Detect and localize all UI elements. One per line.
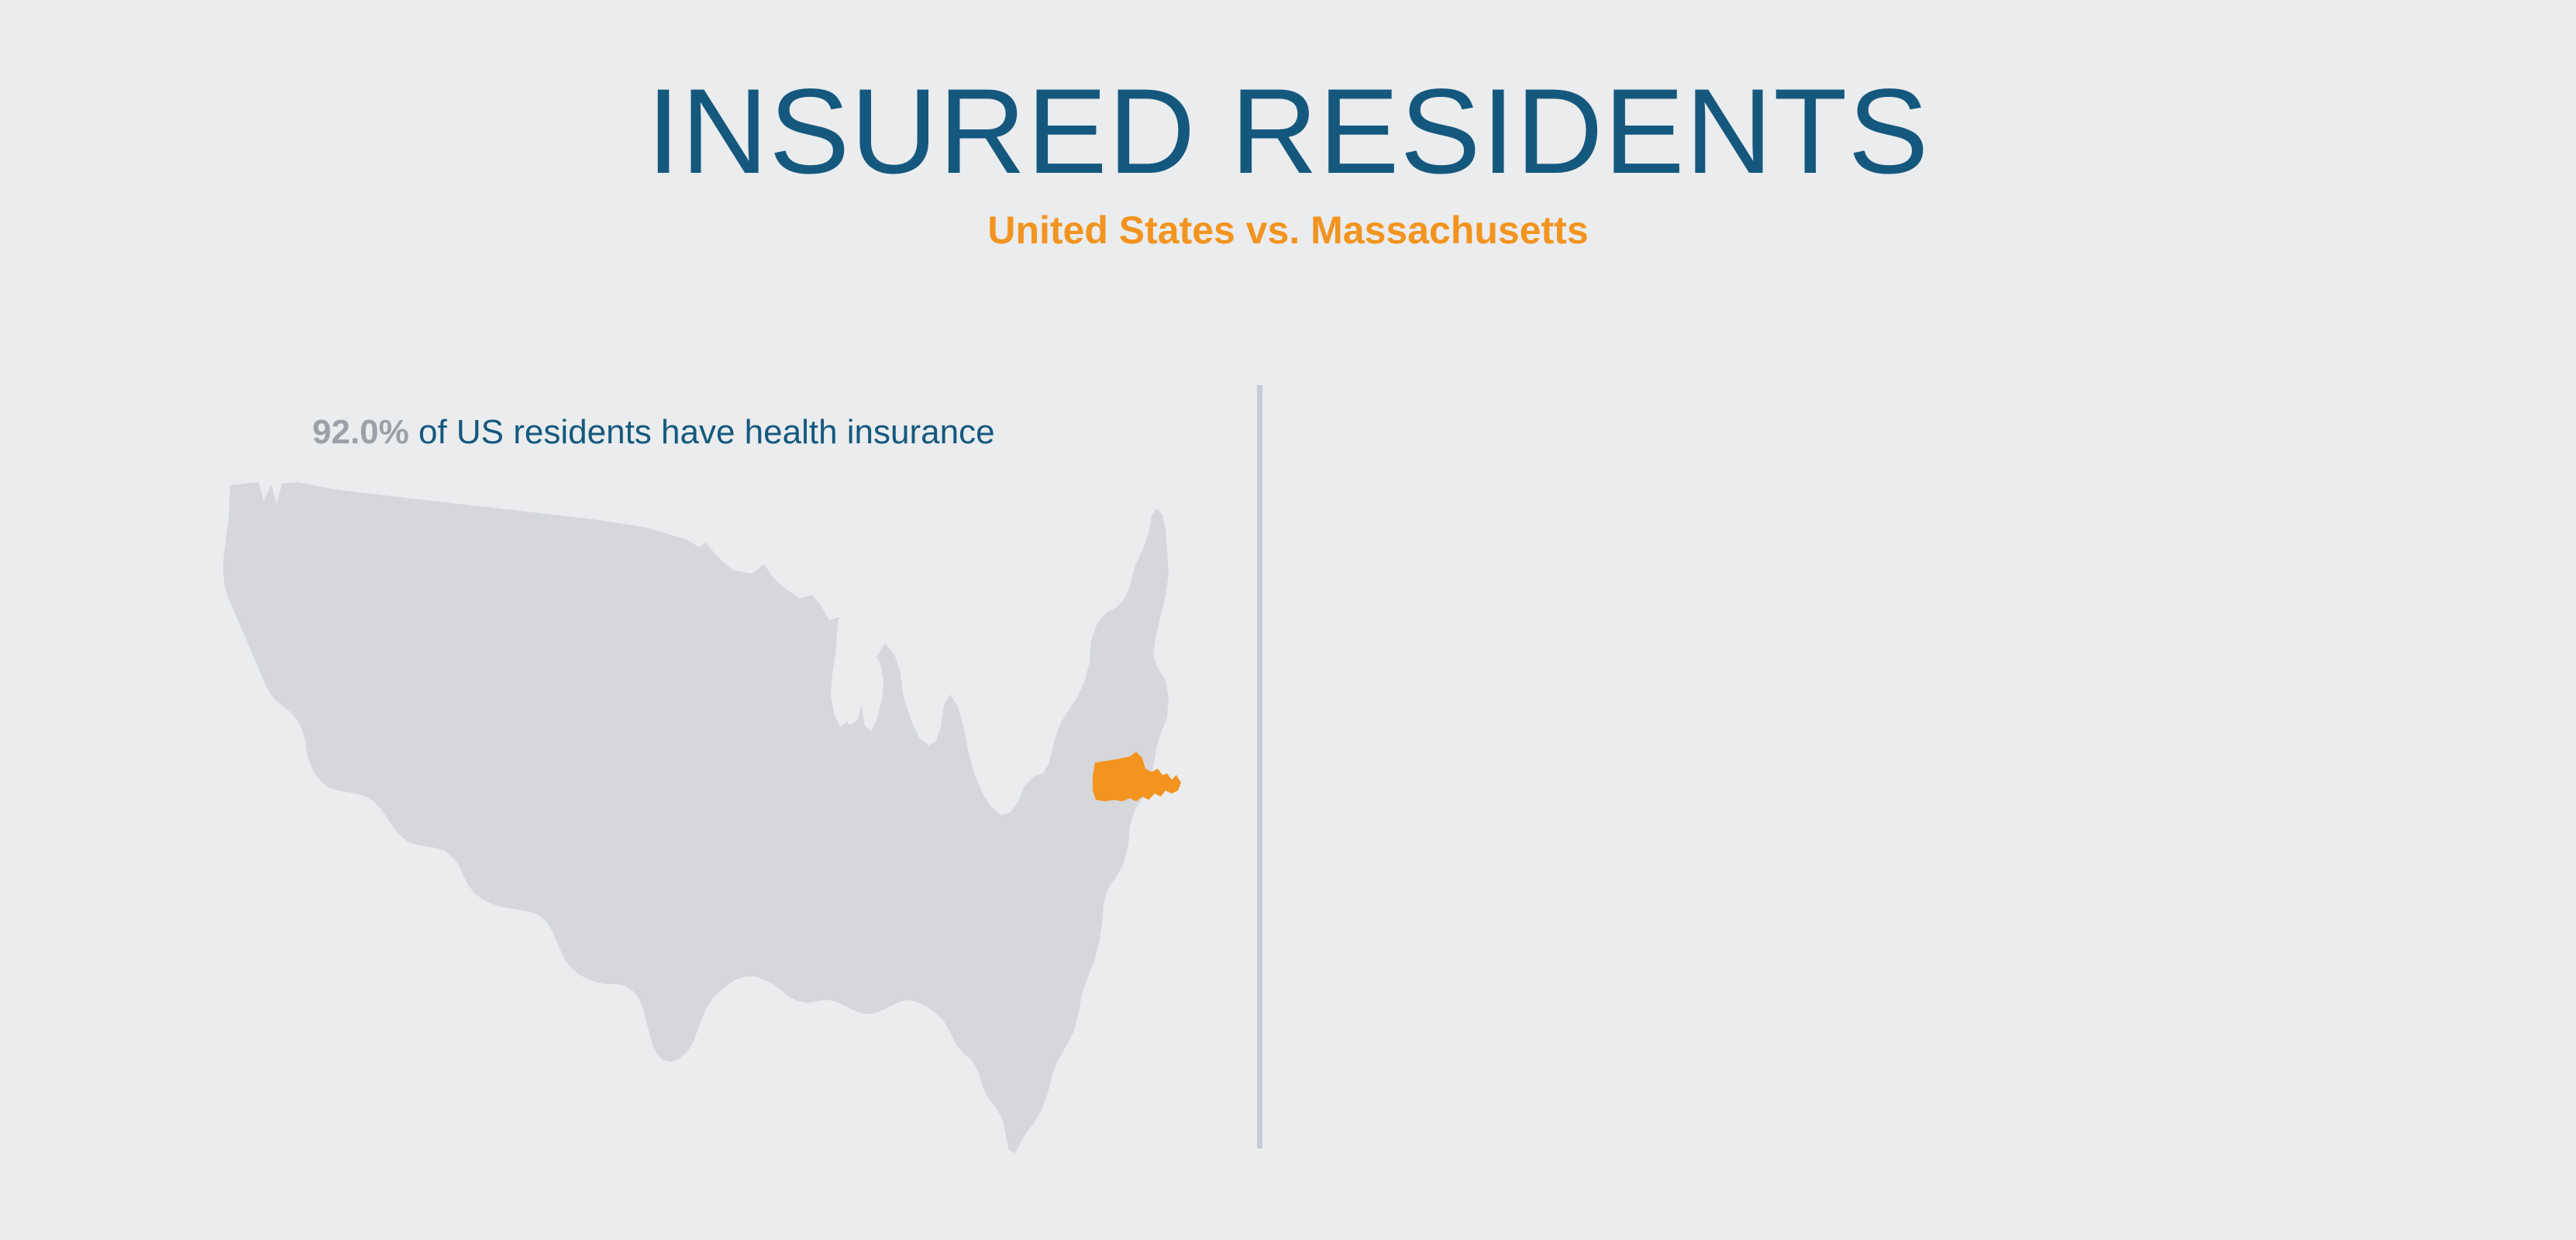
us-map-svg [144,465,1190,1155]
panel-united-states: 92.0% of US residents have health insura… [0,0,1257,1240]
us-stat-line: 92.0% of US residents have health insura… [312,415,995,449]
us-mainland-shape [223,482,1169,1153]
us-stat-percent: 92.0% [312,413,409,451]
infographic-canvas: INSURED RESIDENTS United States vs. Mass… [0,0,2576,1240]
panel-divider [1257,385,1262,1149]
panel-massachusetts: 98.3% of Massachusetts residents have he… [1263,0,2576,1240]
united-states-map [144,465,1190,1155]
us-stat-label: of US residents have health insurance [409,413,995,451]
